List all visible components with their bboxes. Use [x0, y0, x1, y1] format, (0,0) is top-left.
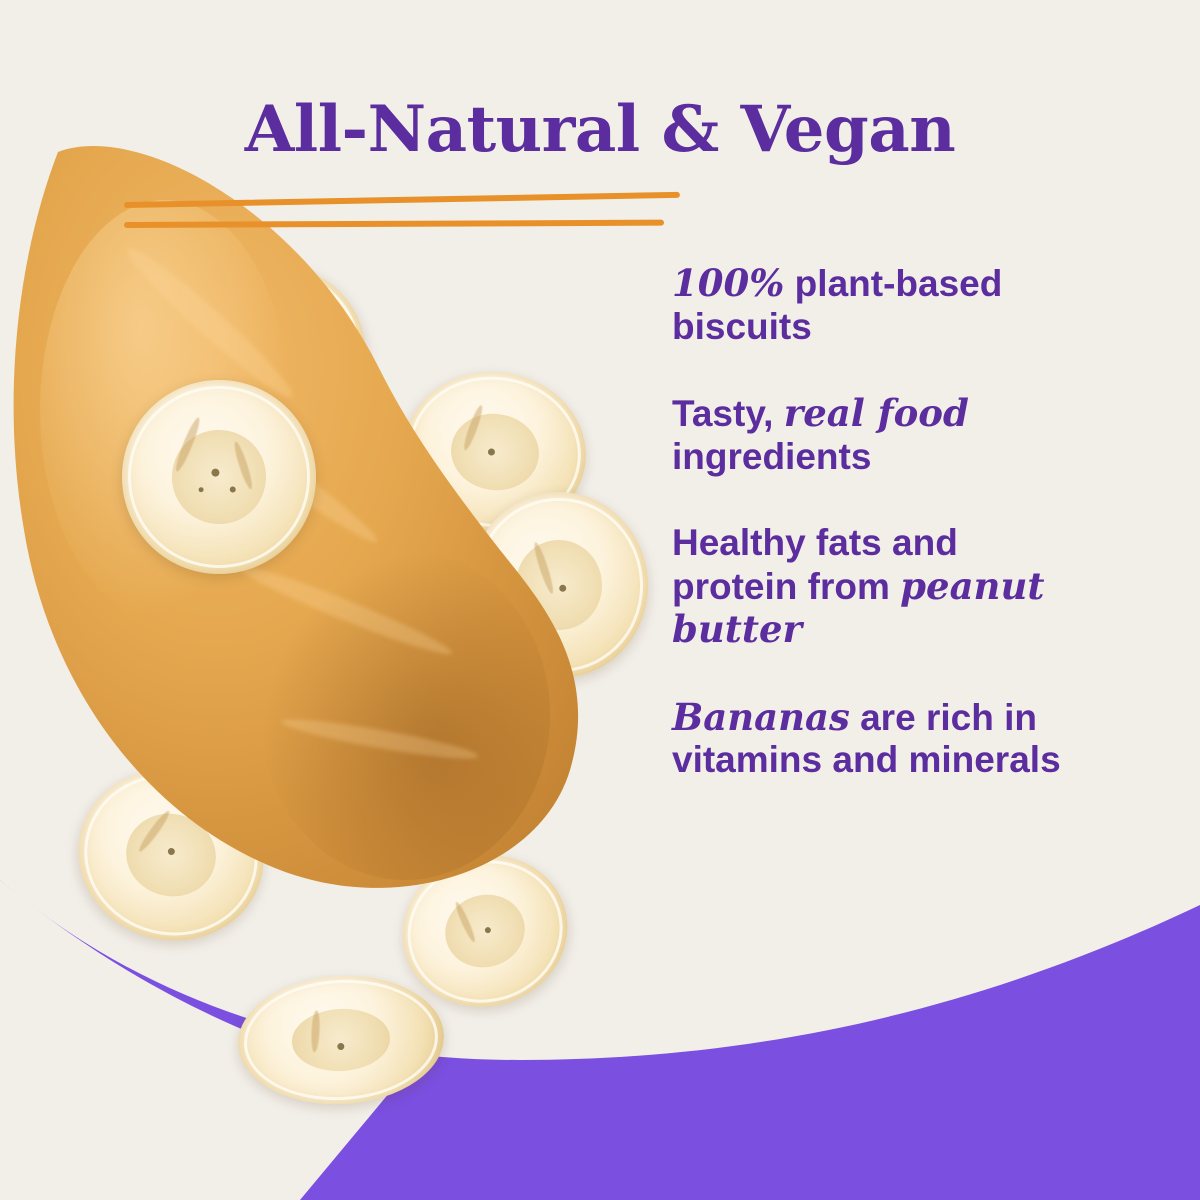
feature-text-pre: Tasty,: [672, 393, 784, 434]
feature-item-plant-based: 100% plant-based biscuits: [672, 262, 1092, 348]
feature-item-bananas: Bananas are rich in vitamins and mineral…: [672, 696, 1092, 782]
illustration-area: [0, 140, 660, 1120]
double-orange-rule: [124, 196, 684, 238]
product-feature-poster: All-Natural & Vegan 100% plant-based bis…: [0, 0, 1200, 1200]
page-title: All-Natural & Vegan: [0, 92, 1200, 167]
feature-item-healthy-fats: Healthy fats and protein from peanut but…: [672, 522, 1092, 652]
feature-emphasis: real food: [784, 391, 969, 435]
banana-chip: [235, 971, 447, 1110]
feature-item-real-food: Tasty, real food ingredients: [672, 392, 1092, 478]
feature-text-post: ingredients: [672, 436, 871, 477]
feature-list: 100% plant-based biscuits Tasty, real fo…: [672, 262, 1092, 782]
feature-emphasis: Bananas: [672, 695, 850, 739]
feature-emphasis: 100%: [672, 261, 784, 305]
rule-line-bottom: [124, 220, 664, 228]
